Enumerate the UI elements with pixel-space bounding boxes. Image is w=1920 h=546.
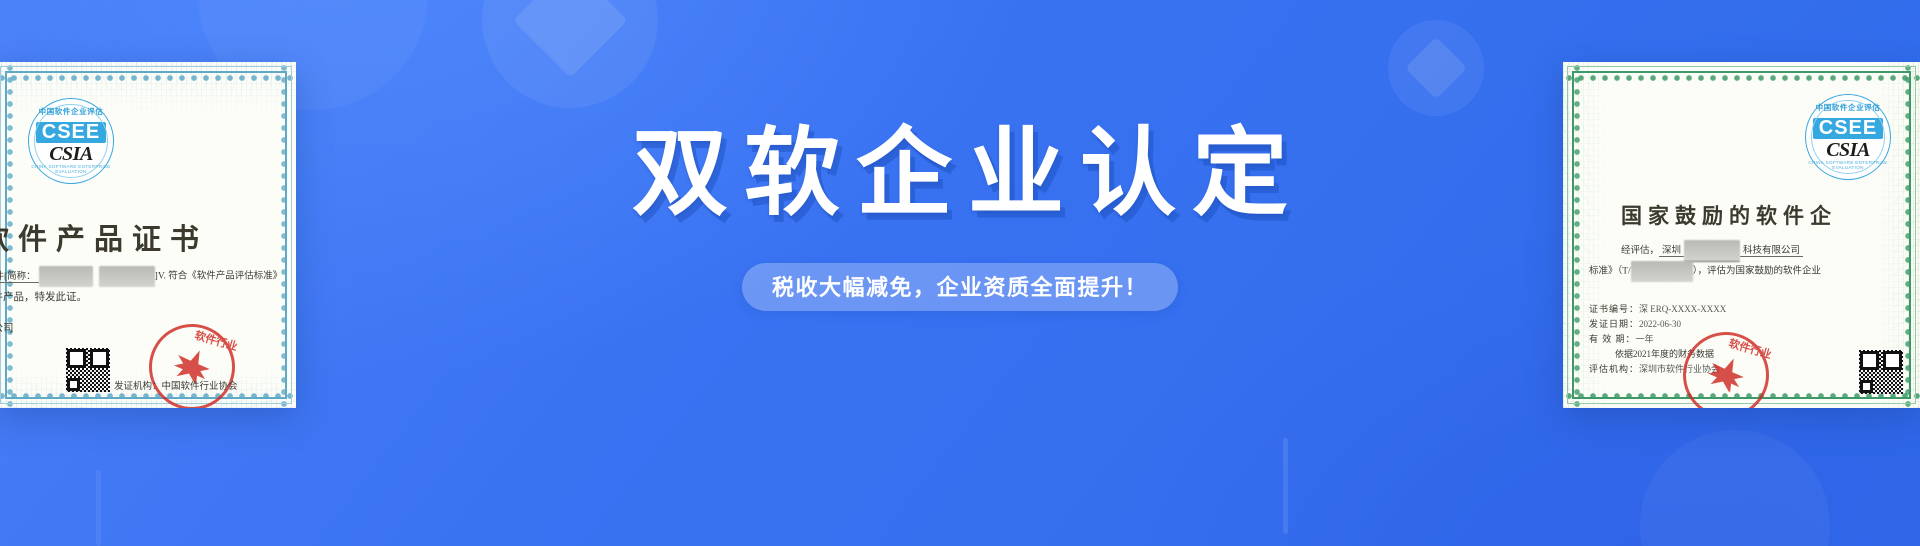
field-value: 2022-06-30 (1639, 319, 1681, 329)
certificate-left-company: 限公司 (0, 318, 14, 339)
field-value: 一年 (1636, 334, 1654, 344)
csee-logo-icon: 中国软件企业评估 CSEE CSIA CHINA SOFTWARE ENTERP… (28, 98, 114, 184)
csee-ring-bottom-text: CHINA SOFTWARE ENTERPRISE EVALUATION (1806, 160, 1890, 170)
csee-ring-top-text: 中国软件企业评估 (1806, 102, 1890, 113)
decorative-circle-diamond-left (482, 0, 658, 108)
decorative-circle-bottom-right (1640, 430, 1830, 546)
csee-mark-top: CSEE (36, 122, 106, 143)
diamond-icon (513, 0, 627, 77)
paragraph-text: 经评估， (1621, 246, 1659, 256)
field-value: 深 ERQ-XXXX-XXXX (1639, 304, 1726, 314)
csee-mark-top: CSEE (1813, 118, 1883, 139)
certificate-left-title: 软件产品证书 (0, 216, 208, 258)
redacted-text: XXXXXX (99, 266, 155, 287)
certificate-right-title: 国家鼓励的软件企 (1621, 200, 1837, 230)
paragraph-text: 标准》（T/ (1589, 267, 1631, 277)
diamond-icon (1405, 37, 1467, 99)
decorative-bar-right (1283, 438, 1288, 534)
field-key: 证书编号： (1589, 304, 1639, 314)
field-row: 证书编号：深 ERQ-XXXX-XXXX (1589, 302, 1726, 317)
redacted-text: XXXXXX (1684, 240, 1740, 262)
certificate-left-paragraph-1: 软件[简称：XXXXXXXXXXXX]V. 符合《软件产品评估标准》 (0, 266, 282, 288)
paragraph-text: ]V. 符合《软件产品评估标准》 (155, 272, 283, 282)
csee-ring-top-text: 中国软件企业评估 (29, 106, 113, 117)
redacted-text: XXXXXXXXXX (1631, 261, 1693, 282)
csee-ring-bottom-text: CHINA SOFTWARE ENTERPRISE EVALUATION (29, 164, 113, 174)
field-row: 发证日期：2022-06-30 (1589, 317, 1726, 332)
certificate-left: 中国软件企业评估 CSEE CSIA CHINA SOFTWARE ENTERP… (0, 62, 296, 408)
field-key: 发证日期： (1589, 319, 1639, 329)
certificate-right: 中国软件企业评估 CSEE CSIA CHINA SOFTWARE ENTERP… (1563, 62, 1920, 408)
csee-mark-bottom: CSIA (1826, 139, 1870, 161)
certificate-right-paragraph-2: 标准》（T/XXXXXXXXXX），评估为国家鼓励的软件企业 (1589, 261, 1821, 283)
decorative-circle-diamond-right (1388, 20, 1484, 116)
certificate-left-paragraph-2: 软件产品，特发此证。 (0, 287, 87, 308)
qr-code (66, 348, 110, 392)
seal-arc-text: 软件行业 (145, 320, 240, 408)
decorative-bar-left (96, 470, 101, 546)
red-seal-stamp: 软件行业 (141, 316, 243, 408)
certificate-right-body: 中国软件企业评估 CSEE CSIA CHINA SOFTWARE ENTERP… (1583, 84, 1900, 390)
csee-logo-icon: 中国软件企业评估 CSEE CSIA CHINA SOFTWARE ENTERP… (1805, 94, 1891, 180)
subtitle-badge[interactable]: 税收大幅减免，企业资质全面提升！ (742, 263, 1178, 311)
paragraph-text: 软件[简称： (0, 272, 39, 283)
qr-code (1859, 350, 1903, 394)
certificate-right-paragraph-1: 经评估，深圳XXXXXX科技有限公司 (1621, 240, 1803, 262)
redacted-text: XXXXXX (39, 266, 93, 287)
field-key: 有 效 期： (1589, 334, 1636, 344)
certificate-left-body: 中国软件企业评估 CSEE CSIA CHINA SOFTWARE ENTERP… (16, 84, 276, 390)
company-suffix: 科技有限公司 (1740, 246, 1803, 257)
company-prefix: 深圳 (1659, 246, 1684, 257)
certificate-left-issuer: 发证机构：中国软件行业协会 (114, 378, 238, 392)
page-title: 双软企业认定 (616, 125, 1304, 223)
banner-root: 中国软件企业评估 CSEE CSIA CHINA SOFTWARE ENTERP… (0, 0, 1920, 546)
field-key: 评估机构： (1589, 364, 1639, 374)
csee-mark-bottom: CSIA (49, 143, 93, 165)
paragraph-text: ），评估为国家鼓励的软件企业 (1693, 267, 1821, 277)
